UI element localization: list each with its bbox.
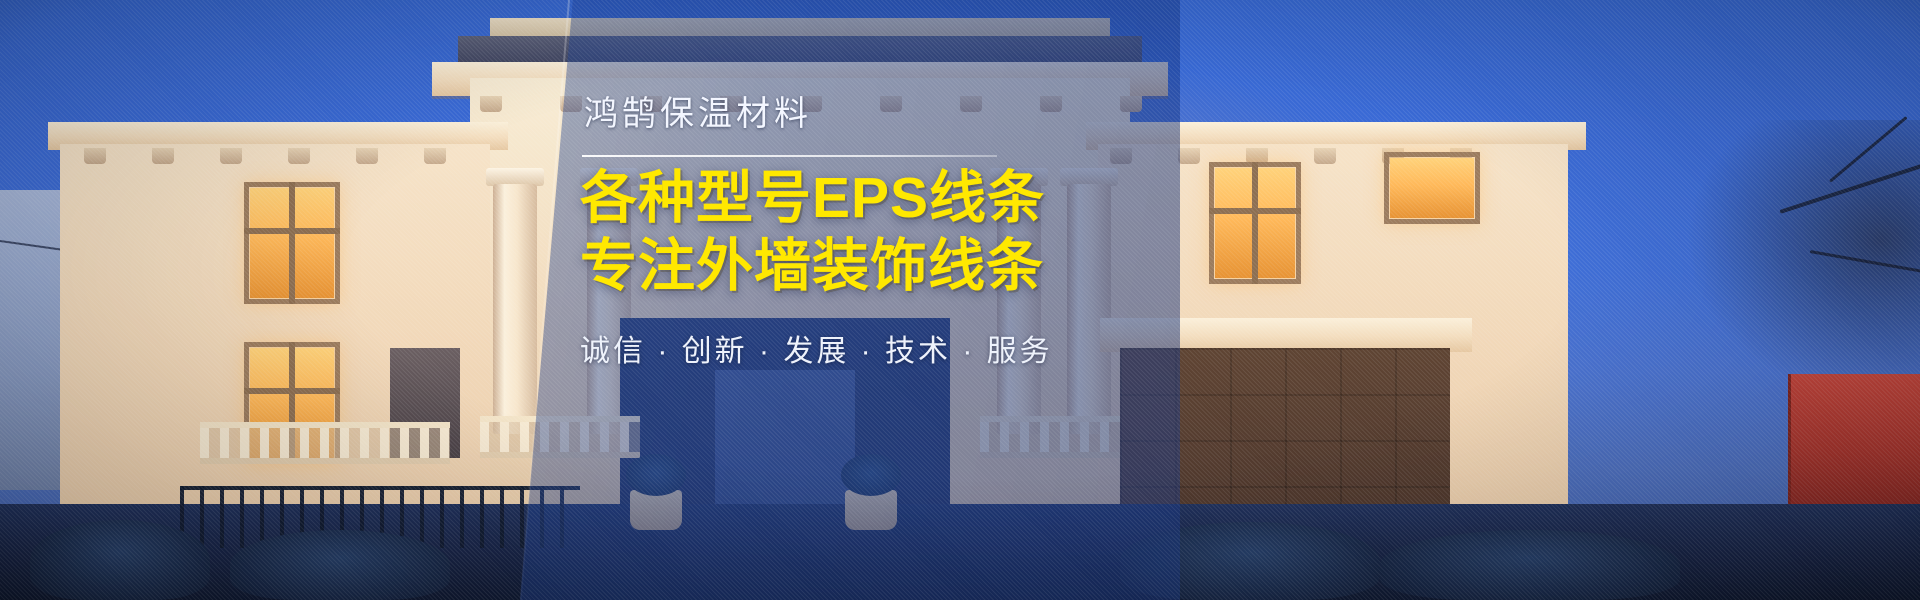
balustrade: [200, 422, 450, 464]
corbel: [220, 148, 242, 164]
window-mullion: [1209, 208, 1301, 214]
headline-line-2: 专注外墙装饰线条: [580, 233, 1040, 300]
column: [493, 184, 537, 434]
corbel: [480, 96, 502, 112]
tree-branch: [1779, 164, 1920, 214]
corbel: [356, 148, 378, 164]
window-mullion: [244, 388, 340, 394]
corbel: [288, 148, 310, 164]
corbel: [1178, 148, 1200, 164]
shrub: [230, 530, 450, 600]
brand-name: 鸿鹄保温材料: [580, 96, 1040, 133]
shrub: [1380, 530, 1680, 600]
divider-rule: [582, 155, 997, 157]
corbel: [424, 148, 446, 164]
tree-branch: [1810, 250, 1920, 274]
window-mullion: [244, 228, 340, 234]
red-container: [1788, 374, 1920, 504]
shrub: [30, 520, 210, 600]
corbel: [84, 148, 106, 164]
hero-banner: 鸿鹄保温材料 各种型号EPS线条 专注外墙装饰线条 诚信 · 创新 · 发展 ·…: [0, 0, 1920, 600]
headline-line-1: 各种型号EPS线条: [580, 165, 1040, 232]
window-mullion: [1252, 162, 1258, 284]
window-frame: [1384, 152, 1480, 224]
corbel: [152, 148, 174, 164]
corbel: [1314, 148, 1336, 164]
window-mullion: [289, 182, 295, 304]
banner-copy: 鸿鹄保温材料 各种型号EPS线条 专注外墙装饰线条 诚信 · 创新 · 发展 ·…: [580, 96, 1040, 370]
tagline: 诚信 · 创新 · 发展 · 技术 · 服务: [580, 326, 1040, 370]
